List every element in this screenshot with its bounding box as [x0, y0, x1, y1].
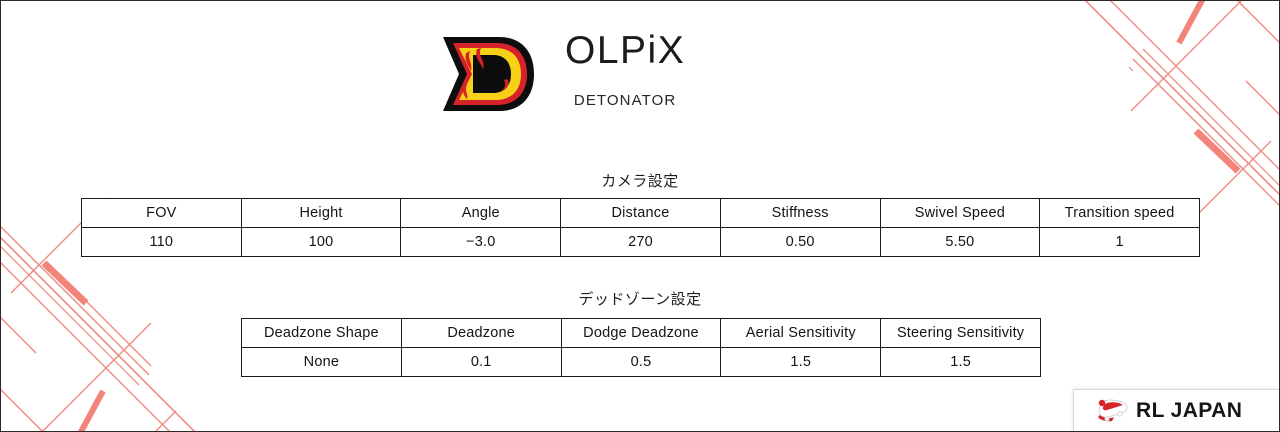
camera-table-header-row: FOV Height Angle Distance Stiffness Swiv… [82, 199, 1200, 228]
camera-col-stiffness: Stiffness [720, 199, 880, 228]
camera-col-distance: Distance [561, 199, 721, 228]
rl-japan-car-swoosh-icon [1096, 398, 1130, 424]
deadzone-col-deadzone: Deadzone [401, 319, 561, 348]
camera-table-value-row: 110 100 −3.0 270 0.50 5.50 1 [82, 228, 1200, 257]
camera-val-fov: 110 [82, 228, 242, 257]
deadzone-section-title: デッドゾーン設定 [1, 288, 1279, 309]
camera-val-angle: −3.0 [401, 228, 561, 257]
rl-japan-label: RL JAPAN [1136, 399, 1242, 423]
camera-val-transition-speed: 1 [1040, 228, 1200, 257]
camera-col-transition-speed: Transition speed [1040, 199, 1200, 228]
deadzone-val-shape: None [242, 348, 402, 377]
deadzone-settings-table: Deadzone Shape Deadzone Dodge Deadzone A… [241, 318, 1041, 377]
brand-row: OLPiX DETONATOR [437, 29, 685, 115]
camera-col-height: Height [241, 199, 401, 228]
slide-canvas: OLPiX DETONATOR カメラ設定 FOV Height Angle D… [0, 0, 1280, 432]
deadzone-col-steering-sensitivity: Steering Sensitivity [881, 319, 1041, 348]
deadzone-table-value-row: None 0.1 0.5 1.5 1.5 [242, 348, 1041, 377]
camera-settings-table: FOV Height Angle Distance Stiffness Swiv… [81, 198, 1200, 257]
camera-col-angle: Angle [401, 199, 561, 228]
camera-val-distance: 270 [561, 228, 721, 257]
deadzone-table-header-row: Deadzone Shape Deadzone Dodge Deadzone A… [242, 319, 1041, 348]
camera-val-height: 100 [241, 228, 401, 257]
deadzone-col-aerial-sensitivity: Aerial Sensitivity [721, 319, 881, 348]
deadzone-col-dodge-deadzone: Dodge Deadzone [561, 319, 721, 348]
deadzone-val-deadzone: 0.1 [401, 348, 561, 377]
deadzone-val-aerial-sensitivity: 1.5 [721, 348, 881, 377]
deadzone-val-steering-sensitivity: 1.5 [881, 348, 1041, 377]
deadzone-val-dodge-deadzone: 0.5 [561, 348, 721, 377]
deadzone-col-shape: Deadzone Shape [242, 319, 402, 348]
rl-japan-watermark: RL JAPAN [1073, 389, 1280, 432]
camera-val-swivel-speed: 5.50 [880, 228, 1040, 257]
camera-col-fov: FOV [82, 199, 242, 228]
camera-col-swivel-speed: Swivel Speed [880, 199, 1040, 228]
brand-texts: OLPiX DETONATOR [565, 29, 685, 109]
detonator-d-logo-icon [437, 33, 537, 115]
header: OLPiX DETONATOR [1, 29, 1280, 141]
camera-val-stiffness: 0.50 [720, 228, 880, 257]
org-name: DETONATOR [565, 92, 685, 109]
camera-section-title: カメラ設定 [1, 170, 1279, 191]
team-name: OLPiX [565, 31, 685, 70]
